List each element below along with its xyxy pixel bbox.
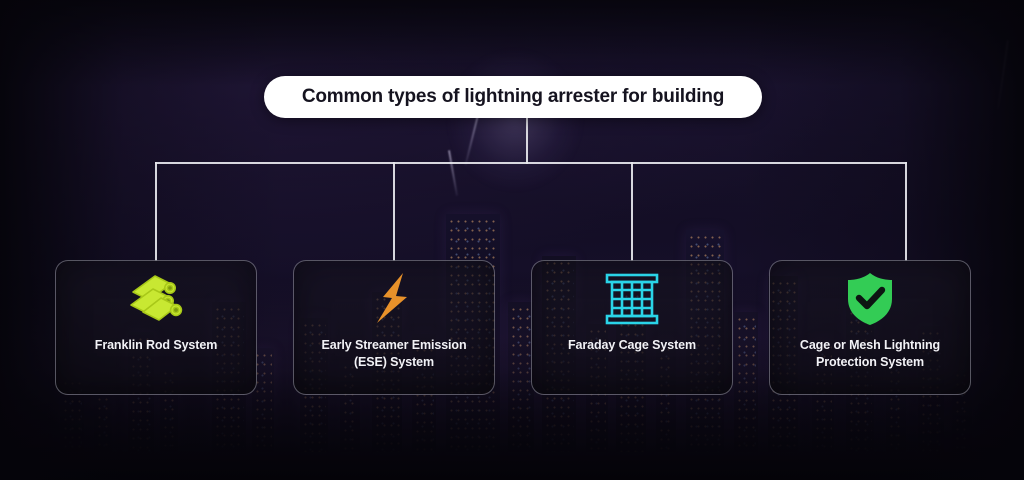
branch-bar [155, 162, 907, 164]
node-label-line2: Protection System [816, 355, 924, 369]
node-label: Franklin Rod System [83, 337, 229, 354]
lightning-bolt-icon [373, 271, 415, 327]
faraday-cage-icon [604, 272, 660, 326]
connector-lines [0, 0, 1024, 480]
node-label-line2: (ESE) System [354, 355, 434, 369]
node-card-franklin-rod[interactable]: Franklin Rod System [55, 260, 257, 395]
icon-wrap [373, 261, 415, 337]
node-card-faraday-cage[interactable]: Faraday Cage System [531, 260, 733, 395]
node-label-line1: Early Streamer Emission [322, 338, 467, 352]
drop-line-4 [905, 162, 907, 261]
node-label: Early Streamer Emission (ESE) System [310, 337, 479, 371]
shield-check-icon [844, 271, 896, 327]
icon-wrap [125, 261, 187, 337]
node-label: Faraday Cage System [556, 337, 708, 354]
node-label-line1: Cage or Mesh Lightning [800, 338, 940, 352]
drop-line-2 [393, 162, 395, 261]
node-label: Cage or Mesh Lightning Protection System [788, 337, 952, 371]
infographic-canvas: Common types of lightning arrester for b… [0, 0, 1024, 480]
lightning-rods-icon [125, 272, 187, 326]
icon-wrap [604, 261, 660, 337]
trunk-line [526, 112, 528, 164]
node-card-early-streamer-emission[interactable]: Early Streamer Emission (ESE) System [293, 260, 495, 395]
page-title: Common types of lightning arrester for b… [302, 86, 724, 108]
node-card-cage-or-mesh[interactable]: Cage or Mesh Lightning Protection System [769, 260, 971, 395]
icon-wrap [844, 261, 896, 337]
drop-line-3 [631, 162, 633, 261]
drop-line-1 [155, 162, 157, 261]
diagram-title-pill: Common types of lightning arrester for b… [264, 76, 762, 118]
